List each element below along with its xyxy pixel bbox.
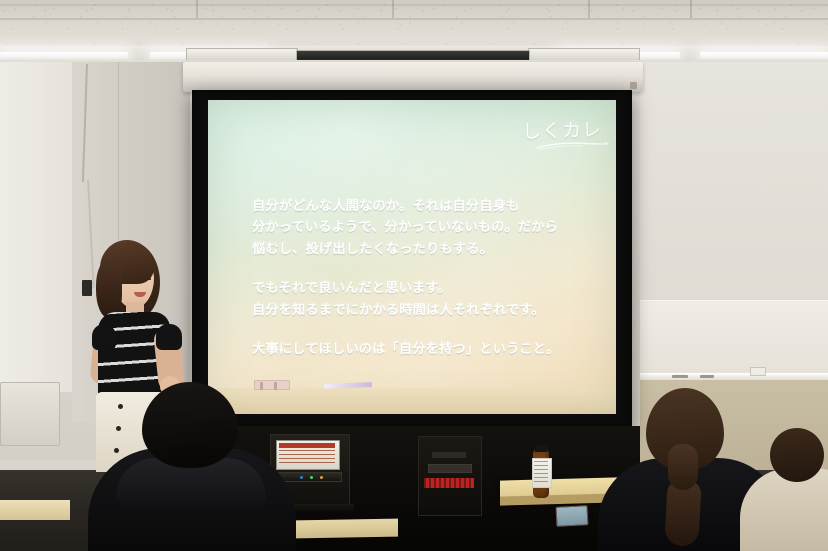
- cabinet-slot-upper: [432, 452, 466, 458]
- brand-logo: しくカレ: [522, 115, 603, 144]
- slide-line: 自分がどんな人間なのか。それは自分自身も: [252, 196, 596, 217]
- ceiling-seam: [0, 4, 828, 6]
- presenter-sleeve-right: [156, 324, 182, 350]
- ceiling-panel-line: [196, 0, 198, 18]
- chair-back-left: [0, 382, 60, 446]
- whiteboard-marker: [700, 375, 714, 378]
- tea-bottle-cap: [535, 445, 547, 452]
- presenter-sleeve-left: [92, 324, 116, 350]
- slide-line: 自分を知るまでにかかる時間は人それぞれです。: [252, 300, 596, 321]
- ceiling-panel-line: [588, 0, 590, 18]
- slide-line: でもそれで良いんだと思います。: [252, 278, 596, 299]
- av-rack-led-amber: [320, 476, 323, 479]
- cabinet-slot-lower: [428, 464, 472, 473]
- desk-left: [0, 500, 70, 520]
- projection-screen: しくカレ 自分がどんな人間なのか。それは自分自身も 分かっているようで、分かって…: [192, 90, 632, 428]
- tea-bottle-label-text: [534, 461, 548, 483]
- slide-line: 悩むし、投げ出したくなったりもする。: [252, 239, 596, 260]
- cabinet-warning-label-text: [424, 478, 474, 488]
- classroom-photo-scene: しくカレ 自分がどんな人間なのか。それは自分自身も 分かっているようで、分かって…: [0, 0, 828, 551]
- smartphone-right: [555, 505, 588, 527]
- audience-far-right-head: [770, 428, 824, 482]
- logo-underline-flourish: [536, 141, 606, 150]
- slide-line: 大事にしてほしいのは「自分を持つ」ということ。: [252, 339, 596, 360]
- audience-center: [88, 382, 288, 551]
- audience-center-head: [142, 382, 238, 468]
- roller-case-end-cap: [630, 82, 637, 89]
- ceiling-seam: [0, 18, 828, 20]
- presenter-hair-side: [96, 260, 122, 318]
- slide-line: 分かっているようで、分かっていないもの。だから: [252, 217, 596, 238]
- ceiling-panel-line: [392, 0, 394, 18]
- ceiling-panel-line: [690, 0, 692, 18]
- av-rack-led-blue: [300, 476, 303, 479]
- projection-screen-roller-case: [183, 62, 643, 92]
- slide-body-text: 自分がどんな人間なのか。それは自分自身も 分かっているようで、分かっていないもの…: [252, 178, 596, 373]
- media-cabinet: [418, 436, 482, 516]
- left-wall-panel: [0, 62, 73, 392]
- whiteboard-marker: [672, 375, 688, 378]
- whiteboard-eraser: [750, 367, 766, 376]
- audience-far-right: [760, 428, 828, 551]
- av-rack-led-green: [310, 476, 313, 479]
- slide-canvas: しくカレ 自分がどんな人間なのか。それは自分自身も 分かっているようで、分かって…: [208, 100, 616, 414]
- audience-right-braid: [668, 444, 698, 490]
